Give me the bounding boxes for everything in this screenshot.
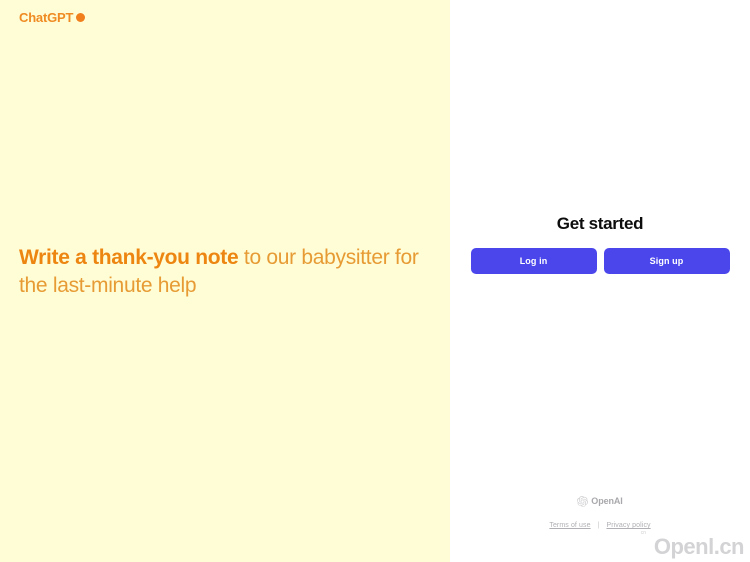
promo-text-block: Write a thank-you note to our babysitter… bbox=[19, 244, 419, 300]
openai-label: OpenAI bbox=[591, 497, 622, 506]
footer-links: Terms of use | Privacy policy bbox=[450, 522, 750, 529]
brand-name-label: ChatGPT bbox=[19, 11, 73, 24]
openai-badge: OpenAI bbox=[450, 496, 750, 507]
chatgpt-landing-page: ChatGPT Write a thank-you note to our ba… bbox=[0, 0, 750, 562]
terms-of-use-link[interactable]: Terms of use bbox=[549, 522, 590, 529]
openai-flower-icon bbox=[577, 496, 588, 507]
promo-line: Write a thank-you note to our babysitter… bbox=[19, 244, 419, 300]
login-button[interactable]: Log in bbox=[471, 248, 597, 274]
left-promo-panel: ChatGPT Write a thank-you note to our ba… bbox=[0, 0, 450, 562]
promo-headline: Write a thank-you note bbox=[19, 246, 238, 269]
chatgpt-brand-logo[interactable]: ChatGPT bbox=[19, 11, 85, 24]
footer-separator: | bbox=[598, 522, 600, 529]
filled-circle-icon bbox=[76, 13, 85, 22]
auth-buttons-row: Log in Sign up bbox=[450, 248, 750, 274]
privacy-policy-link[interactable]: Privacy policy bbox=[606, 522, 650, 529]
signup-button[interactable]: Sign up bbox=[604, 248, 730, 274]
footer: OpenAI Terms of use | Privacy policy bbox=[450, 496, 750, 529]
page-title: Get started bbox=[450, 214, 750, 234]
auth-block: Get started Log in Sign up bbox=[450, 214, 750, 274]
right-auth-panel: Get started Log in Sign up OpenAI Terms … bbox=[450, 0, 750, 562]
